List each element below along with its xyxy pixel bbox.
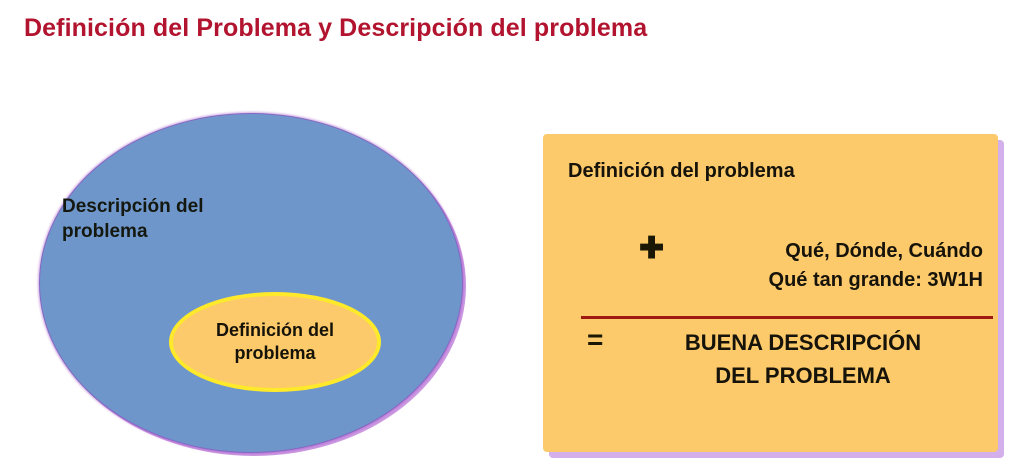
- venn-diagram: Descripción del problema Definición del …: [0, 100, 500, 465]
- inner-ellipse-label: Definición del problema: [173, 319, 377, 365]
- formula-panel: Definición del problema ✚ Qué, Dónde, Cu…: [543, 134, 998, 452]
- formula-addend-line: Qué tan grande: 3W1H: [683, 266, 983, 295]
- outer-ellipse-descripcion-del-problema: [39, 113, 463, 453]
- formula-addend-line: Qué, Dónde, Cuándo: [683, 237, 983, 266]
- equals-icon: =: [587, 326, 603, 354]
- formula-divider: [581, 316, 993, 319]
- inner-ellipse-definicion-del-problema: Definición del problema: [169, 292, 381, 392]
- formula-result: BUENA DESCRIPCIÓN DEL PROBLEMA: [623, 326, 983, 392]
- outer-ellipse-label: Descripción del problema: [62, 194, 292, 245]
- formula-heading: Definición del problema: [568, 158, 798, 184]
- formula-result-line: BUENA DESCRIPCIÓN: [623, 326, 983, 359]
- formula-addends: Qué, Dónde, Cuándo Qué tan grande: 3W1H: [683, 237, 983, 295]
- page-title: Definición del Problema y Descripción de…: [24, 14, 647, 43]
- formula-result-line: DEL PROBLEMA: [623, 359, 983, 392]
- plus-icon: ✚: [639, 234, 664, 264]
